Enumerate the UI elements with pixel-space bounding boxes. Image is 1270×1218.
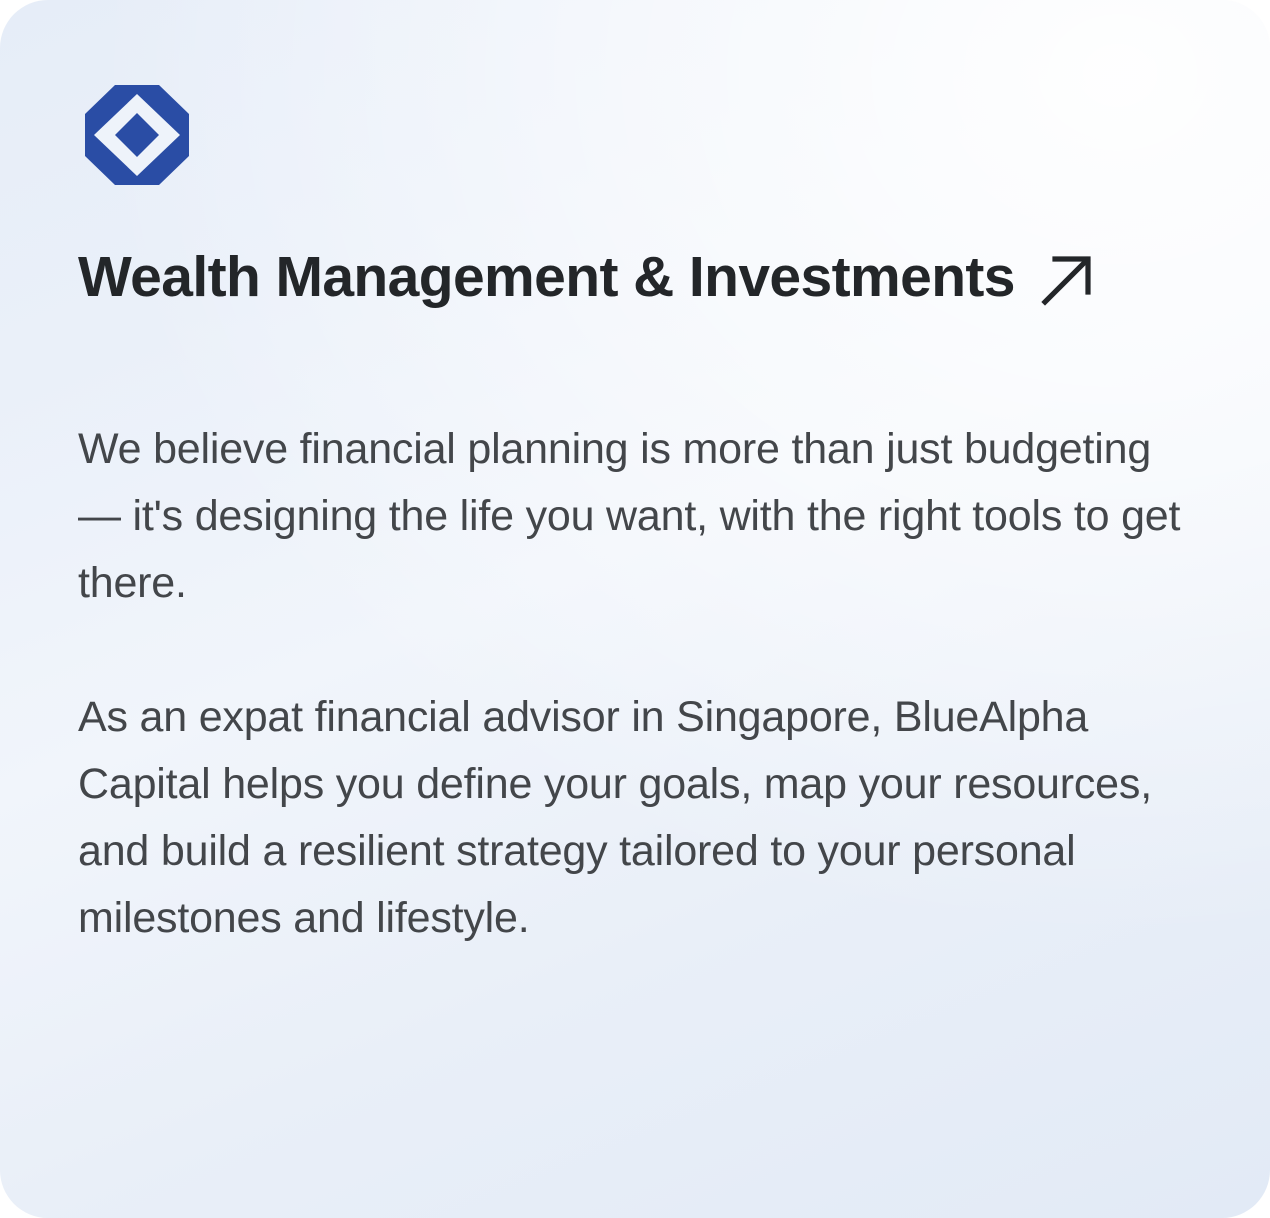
body-paragraph-1: We believe financial planning is more th… <box>78 416 1198 617</box>
page-title: Wealth Management & Investments <box>78 246 1015 310</box>
card-heading[interactable]: Wealth Management & Investments <box>78 246 1093 310</box>
card-body: We believe financial planning is more th… <box>78 416 1198 952</box>
body-paragraph-2: As an expat financial advisor in Singapo… <box>78 684 1198 952</box>
arrow-up-right-icon[interactable] <box>1041 254 1093 306</box>
brand-logo <box>85 85 189 185</box>
octagon-diamond-icon <box>85 85 189 185</box>
service-card[interactable]: Wealth Management & Investments We belie… <box>0 0 1270 1218</box>
